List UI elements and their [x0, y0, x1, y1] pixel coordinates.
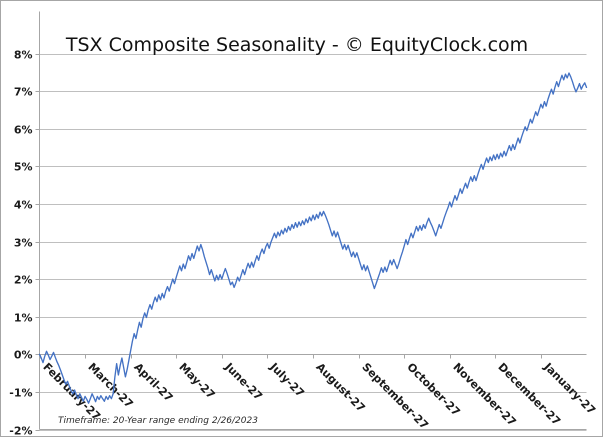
seasonality-line	[40, 73, 587, 403]
seasonality-chart: -2%-1%0%1%2%3%4%5%6%7%8% February-27Marc…	[1, 1, 604, 438]
y-axis-labels: -2%-1%0%1%2%3%4%5%6%7%8%	[9, 49, 32, 438]
x-tick-label: June-27	[222, 360, 265, 403]
y-tick-label: 2%	[14, 274, 33, 287]
y-tick-label: -2%	[9, 425, 32, 438]
y-tick-label: 7%	[14, 86, 33, 99]
y-tick-label: 4%	[14, 199, 33, 212]
x-tick-label: May-27	[176, 360, 217, 401]
x-tick-label: July-27	[267, 360, 307, 400]
y-tick-label: -1%	[9, 387, 32, 400]
y-tick-label: 0%	[14, 349, 33, 362]
y-tick-label: 6%	[14, 124, 33, 137]
x-tick-label: April-27	[131, 360, 175, 404]
chart-footnote: Timeframe: 20-Year range ending 2/26/202…	[58, 416, 258, 426]
y-tick-label: 1%	[14, 312, 33, 325]
chart-title: TSX Composite Seasonality - © EquityCloc…	[65, 34, 528, 56]
chart-container: -2%-1%0%1%2%3%4%5%6%7%8% February-27Marc…	[0, 0, 603, 437]
y-tick-label: 5%	[14, 161, 33, 174]
y-tick-label: 3%	[14, 237, 33, 250]
y-tick-label: 8%	[14, 49, 33, 62]
